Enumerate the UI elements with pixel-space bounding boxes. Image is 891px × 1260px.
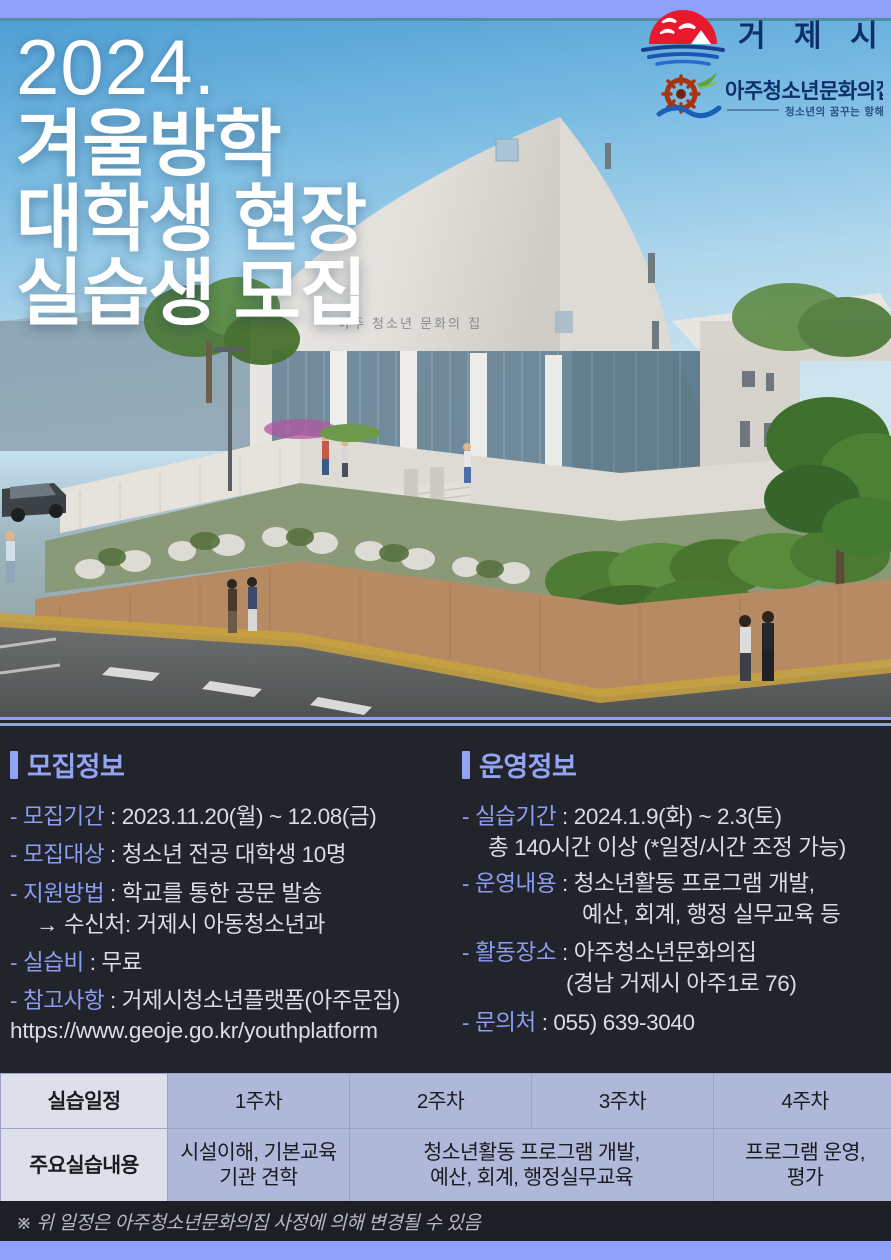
poster-headline: 2024. 겨울방학 대학생 현장 실습생 모집 [16, 30, 656, 331]
headline-main: 겨울방학 대학생 현장 실습생 모집 [16, 108, 656, 331]
recruit-label-fee: 실습비 [23, 950, 84, 975]
colon: : [104, 988, 122, 1013]
recruit-value-target: 청소년 전공 대학생 10명 [122, 842, 346, 867]
colon: : [104, 881, 122, 906]
operation-item-period: - 실습기간 : 2024.1.9(화) ~ 2.3(토) [462, 802, 887, 831]
geoje-city-logo: 거 제 시 거 제 시 [633, 6, 883, 68]
footnote-text: ※ 위 일정은 아주청소년문화의집 사정에 의해 변경될 수 있음 [0, 1208, 480, 1235]
recruit-item-target: - 모집대상 : 청소년 전공 대학생 10명 [10, 840, 460, 869]
recruit-info-heading: 모집정보 [10, 745, 460, 784]
recruit-platform-url[interactable]: https://www.geoje.go.kr/youthplatform [10, 1018, 460, 1044]
recruit-value-period: 2023.11.20(월) ~ 12.08(금) [122, 804, 377, 829]
operation-value-period: 2024.1.9(화) ~ 2.3(토) [574, 804, 782, 829]
colon: : [556, 871, 574, 896]
operation-item-place: - 활동장소 : 아주청소년문화의집 [462, 938, 887, 967]
operation-info-title: 운영정보 [479, 745, 576, 784]
colon: : [84, 950, 102, 975]
geoje-city-logo-mark: 거 제 시 [633, 6, 883, 68]
operation-value-content: 청소년활동 프로그램 개발, [574, 871, 815, 896]
operation-value-place: 아주청소년문화의집 [574, 940, 757, 965]
schedule-table: 실습일정 1주차 2주차 3주차 4주차 주요실습내용 시설이해, 기본교육기관… [0, 1073, 891, 1202]
colon: : [536, 1010, 554, 1035]
headline-line-1: 겨울방학 [16, 108, 656, 182]
headline-line-3: 실습생 모집 [16, 257, 656, 331]
operation-item-content: - 운영내용 : 청소년활동 프로그램 개발, [462, 869, 887, 898]
colon: : [104, 804, 122, 829]
colon: : [556, 940, 574, 965]
recruit-value-fee: 무료 [101, 950, 142, 975]
poster-root: 아주 청소년 문화의 집 [0, 0, 891, 1260]
recruit-value-method: 학교를 통한 공문 발송 [122, 881, 322, 906]
bullet-dash: - [462, 871, 475, 896]
table-row-contents: 주요실습내용 시설이해, 기본교육기관 견학 청소년활동 프로그램 개발,예산,… [1, 1129, 891, 1202]
bullet-dash: - [10, 881, 23, 906]
operation-item-content-sub: 예산, 회계, 행정 실무교육 등 [462, 900, 887, 929]
table-cell-week-3: 3주차 [532, 1074, 714, 1129]
svg-text:청소년의 꿈꾸는 항해: 청소년의 꿈꾸는 항해 [785, 105, 883, 118]
operation-label-content: 운영내용 [475, 871, 556, 896]
section-divider-upper [0, 717, 891, 720]
table-cell-content-1: 시설이해, 기본교육기관 견학 [168, 1129, 350, 1202]
table-cell-week-2: 2주차 [350, 1074, 532, 1129]
table-cell-content-2: 청소년활동 프로그램 개발,예산, 회계, 행정실무교육 [350, 1129, 714, 1202]
bullet-dash: - [10, 804, 23, 829]
svg-text:거 제 시: 거 제 시 [738, 19, 883, 54]
aju-logo-mark: 아주청소년문화의집 청소년의 꿈꾸는 항해 [651, 68, 883, 128]
operation-item-place-sub: (경남 거제시 아주1로 76) [462, 969, 887, 998]
bullet-dash: - [462, 804, 475, 829]
table-cell-week-4: 4주차 [714, 1074, 891, 1129]
svg-text:아주청소년문화의집: 아주청소년문화의집 [725, 79, 883, 103]
heading-accent-bar [462, 751, 470, 779]
table-rowhead-contents: 주요실습내용 [1, 1129, 168, 1202]
table-rowhead-schedule: 실습일정 [1, 1074, 168, 1129]
operation-label-place: 활동장소 [475, 940, 556, 965]
recruit-value-note: 거제시청소년플랫폼(아주문집) [122, 988, 400, 1013]
operation-value-contact: 055) 639-3040 [553, 1010, 694, 1035]
headline-year: 2024. [16, 30, 656, 104]
table-row-weeks: 실습일정 1주차 2주차 3주차 4주차 [1, 1074, 891, 1129]
colon: : [556, 804, 574, 829]
bullet-dash: - [10, 950, 23, 975]
bullet-dash: - [462, 1010, 475, 1035]
recruit-label-target: 모집대상 [23, 842, 104, 867]
recruit-item-fee: - 실습비 : 무료 [10, 948, 460, 977]
colon: : [104, 842, 122, 867]
operation-item-contact: - 문의처 : 055) 639-3040 [462, 1008, 887, 1037]
recruit-info-column: 모집정보 - 모집기간 : 2023.11.20(월) ~ 12.08(금) -… [10, 745, 460, 1044]
recruit-item-method: - 지원방법 : 학교를 통한 공문 발송 [10, 879, 460, 908]
footnote-bar: ※ 위 일정은 아주청소년문화의집 사정에 의해 변경될 수 있음 [0, 1201, 891, 1241]
operation-label-period: 실습기간 [475, 804, 556, 829]
headline-line-2: 대학생 현장 [16, 183, 656, 257]
operation-label-contact: 문의처 [475, 1010, 536, 1035]
heading-accent-bar [10, 751, 18, 779]
table-cell-content-3: 프로그램 운영,평가 [714, 1129, 891, 1202]
operation-info-column: 운영정보 - 실습기간 : 2024.1.9(화) ~ 2.3(토) 총 140… [462, 745, 887, 1046]
recruit-item-period: - 모집기간 : 2023.11.20(월) ~ 12.08(금) [10, 802, 460, 831]
aju-youth-culture-house-logo: 아주청소년문화의집 청소년의 꿈꾸는 항해 아주청소년문화의집 청소년의 꿈꾸는… [651, 68, 883, 128]
recruit-item-note: - 참고사항 : 거제시청소년플랫폼(아주문집) [10, 986, 460, 1015]
operation-info-heading: 운영정보 [462, 745, 887, 784]
bullet-dash: - [10, 842, 23, 867]
bullet-dash: - [462, 940, 475, 965]
recruit-info-title: 모집정보 [27, 745, 124, 784]
table-cell-week-1: 1주차 [168, 1074, 350, 1129]
recruit-label-method: 지원방법 [23, 881, 104, 906]
bullet-dash: - [10, 988, 23, 1013]
bottom-accent-bar [0, 1241, 891, 1260]
recruit-label-period: 모집기간 [23, 804, 104, 829]
recruit-label-note: 참고사항 [23, 988, 104, 1013]
operation-item-hours: 총 140시간 이상 (*일정/시간 조정 가능) [462, 833, 887, 862]
info-section: 모집정보 - 모집기간 : 2023.11.20(월) ~ 12.08(금) -… [0, 727, 891, 1072]
section-divider-lower [0, 723, 891, 726]
logo-group: 거 제 시 거 제 시 아주청소년문 [633, 6, 883, 136]
recruit-item-method-sub: → 수신처: 거제시 아동청소년과 [10, 910, 460, 939]
